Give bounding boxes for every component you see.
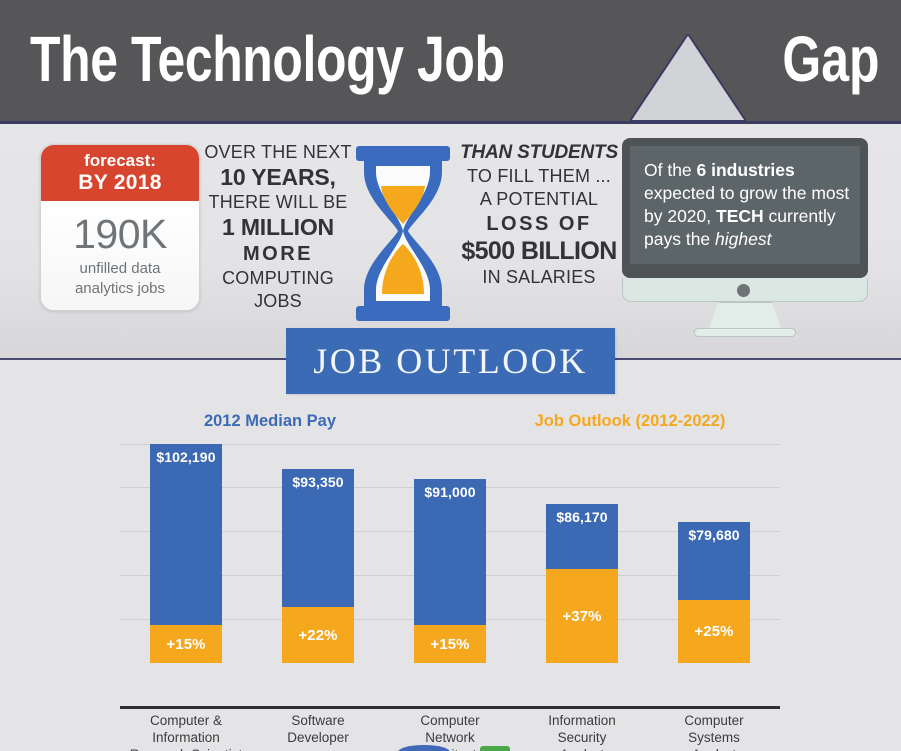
- job-outlook-banner: JOB OUTLOOK: [286, 328, 615, 394]
- x-axis-label-line: Network: [425, 730, 475, 745]
- stat-right-line6: IN SALARIES: [452, 266, 626, 289]
- stat-right-block: THAN STUDENTS TO FILL THEM ... A POTENTI…: [452, 141, 626, 289]
- stat-left-line1: OVER THE NEXT: [198, 141, 358, 164]
- forecast-label: forecast:: [84, 151, 156, 171]
- forecast-description-line1: unfilled data: [80, 260, 161, 277]
- infographic-page: The Technology Job Gap forecast: BY 2018…: [0, 0, 901, 751]
- x-axis-label-line: Computer &: [150, 713, 222, 728]
- forecast-value: 190K: [73, 213, 167, 256]
- x-axis-label-line: Developer: [287, 730, 349, 745]
- forecast-card-body: 190K unfilled data analytics jobs: [41, 201, 199, 310]
- chart-x-axis-labels: Computer &InformationResearch ScientistS…: [120, 712, 780, 751]
- bar-segment-job-outlook: +25%: [678, 600, 750, 663]
- forecast-year: BY 2018: [78, 171, 161, 195]
- monitor-screen: Of the 6 industries expected to grow the…: [630, 146, 860, 264]
- stat-right-line3: A POTENTIAL: [452, 188, 626, 211]
- stat-left-line6: COMPUTING JOBS: [198, 267, 358, 313]
- monitor-text-part1: Of the: [644, 160, 697, 180]
- page-title-accent: Gap: [782, 27, 879, 91]
- x-axis-label-line: Information: [548, 713, 616, 728]
- stat-left-line3: THERE WILL BE: [198, 191, 358, 214]
- bar-segment-median-pay: $102,190: [150, 444, 222, 625]
- x-axis-line: [120, 706, 780, 709]
- stacked-bar: $93,350+22%: [282, 469, 354, 663]
- bar-segment-job-outlook: +22%: [282, 607, 354, 663]
- x-axis-label-line: Information: [152, 730, 220, 745]
- footer-logo-green-icon: [480, 746, 510, 751]
- x-axis-label-line: Research Scientist: [130, 747, 243, 751]
- x-axis-label-line: Software: [291, 713, 344, 728]
- stat-left-line2: 10 YEARS,: [198, 164, 358, 191]
- x-axis-label: ComputerSystemsAnalyst: [648, 712, 780, 751]
- x-axis-label-line: Analyst: [560, 747, 604, 751]
- x-axis-label-line: Security: [558, 730, 607, 745]
- bar-segment-median-pay: $93,350: [282, 469, 354, 607]
- monitor-foot: [694, 328, 796, 337]
- bar-segment-median-pay: $91,000: [414, 479, 486, 625]
- stat-right-line1: THAN STUDENTS: [452, 141, 626, 165]
- legend-item-median-pay: 2012 Median Pay: [145, 412, 395, 431]
- monitor-text-bold2: TECH: [716, 206, 764, 226]
- stat-right-line4: LOSS OF: [452, 211, 626, 237]
- mountain-peak-outline-icon: [630, 34, 746, 121]
- stat-right-line5: $500 BILLION: [452, 237, 626, 266]
- stacked-bar: $91,000+15%: [414, 479, 486, 663]
- forecast-card-header: forecast: BY 2018: [41, 145, 199, 201]
- stat-left-line4: 1 MILLION: [198, 214, 358, 241]
- x-axis-label: Computer &InformationResearch Scientist: [120, 712, 252, 751]
- x-axis-label-line: Systems: [688, 730, 740, 745]
- forecast-description-line2: analytics jobs: [75, 280, 165, 297]
- bar-segment-job-outlook: +37%: [546, 569, 618, 663]
- bar-segment-job-outlook: +15%: [150, 625, 222, 663]
- hourglass-icon: [354, 146, 452, 321]
- job-outlook-banner-title: JOB OUTLOOK: [313, 341, 588, 381]
- forecast-card: forecast: BY 2018 190K unfilled data ana…: [40, 144, 200, 311]
- header-bar: The Technology Job Gap: [0, 0, 901, 121]
- x-axis-label: SoftwareDeveloper: [252, 712, 384, 751]
- bar-column: $79,680+25%: [648, 522, 780, 663]
- x-axis-label-line: Analyst: [692, 747, 736, 751]
- x-axis-label: InformationSecurityAnalyst: [516, 712, 648, 751]
- stacked-bar: $86,170+37%: [546, 504, 618, 663]
- legend-item-job-outlook: Job Outlook (2012-2022): [505, 412, 755, 431]
- stacked-bar: $102,190+15%: [150, 444, 222, 663]
- monitor-power-button-icon: [737, 284, 750, 297]
- monitor-icon: Of the 6 industries expected to grow the…: [622, 138, 894, 328]
- bar-column: $93,350+22%: [252, 469, 384, 663]
- bar-column: $86,170+37%: [516, 504, 648, 663]
- monitor-text-italic: highest: [715, 229, 771, 249]
- monitor-message: Of the 6 industries expected to grow the…: [630, 159, 860, 251]
- bar-column: $91,000+15%: [384, 479, 516, 663]
- chart-bars: $102,190+15%$93,350+22%$91,000+15%$86,17…: [120, 444, 780, 663]
- monitor-text-bold1: 6 industries: [697, 160, 795, 180]
- bar-column: $102,190+15%: [120, 444, 252, 663]
- job-outlook-chart: 2012 Median Pay Job Outlook (2012-2022) …: [0, 400, 901, 730]
- x-axis-label-line: Computer: [684, 713, 743, 728]
- stacked-bar: $79,680+25%: [678, 522, 750, 663]
- stat-left-block: OVER THE NEXT 10 YEARS, THERE WILL BE 1 …: [198, 141, 358, 313]
- stat-right-line2: TO FILL THEM ...: [452, 165, 626, 188]
- x-axis-label-line: Computer: [420, 713, 479, 728]
- forecast-description: unfilled data analytics jobs: [75, 259, 165, 299]
- stat-left-line5: MORE: [198, 241, 358, 267]
- page-title: The Technology Job: [30, 27, 505, 91]
- bar-segment-median-pay: $79,680: [678, 522, 750, 600]
- bar-segment-job-outlook: +15%: [414, 625, 486, 663]
- bar-segment-median-pay: $86,170: [546, 504, 618, 569]
